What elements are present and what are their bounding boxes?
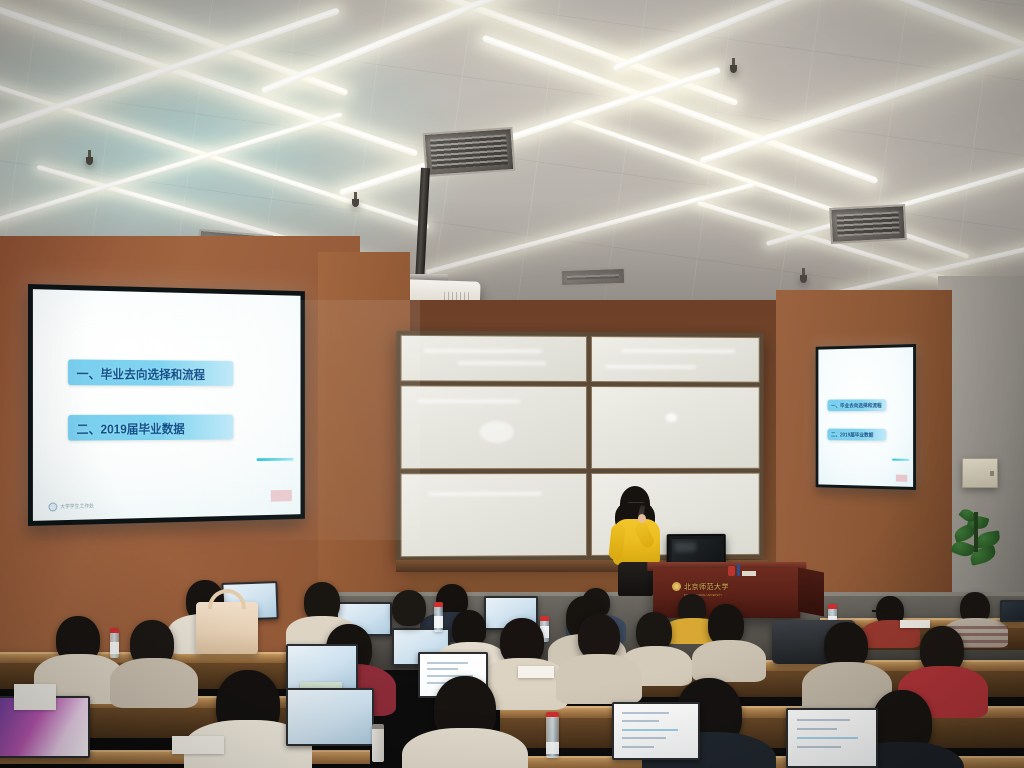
water-bottle [110,628,119,658]
audience-head [392,590,426,626]
wall-control-cabinet [962,458,998,488]
laptop [1000,600,1024,622]
laptop [786,708,878,768]
whiteboard-panel [401,473,587,557]
audience-seating [0,560,1024,768]
slide-logo-text: 大学学生工作处 [60,503,94,511]
thermos [372,724,384,762]
secondary-projection-screen: 一、毕业去向选择和流程 二、2019届毕业数据 [816,344,916,490]
slide-logo-seal [49,502,58,511]
laptop [612,702,700,760]
side-slide-corner-mark [896,475,907,482]
cabinet-latch [990,471,994,476]
lecture-hall-photo: 一、毕业去向选择和流程 二、2019届毕业数据 大学学生工作处 一、毕业去向选择… [0,0,1024,768]
main-screen-surface: 一、毕业去向选择和流程 二、2019届毕业数据 大学学生工作处 [33,289,301,521]
slide-accent-line [257,458,294,461]
papers [518,666,554,678]
audience-shoulders [110,658,198,708]
sprinkler-head [86,150,93,165]
side-slide-bullet-2-text: 二、2019届毕业数据 [831,431,873,438]
water-bottle [546,712,559,758]
audience-shoulders [556,654,642,704]
side-slide-bullet-1-text: 一、毕业去向选择和流程 [831,402,882,409]
slide-corner-mark [271,490,292,502]
papers [172,736,224,754]
side-slide-accent-line [892,459,909,461]
main-projection-screen: 一、毕业去向选择和流程 二、2019届毕业数据 大学学生工作处 [28,284,305,526]
hvac-vent [423,127,516,177]
podium-monitor-glare [674,542,696,552]
slide-bullet-2: 二、2019届毕业数据 [68,415,234,441]
whiteboard-panel [591,336,760,383]
slide-bullet-2-text: 二、2019届毕业数据 [77,418,185,437]
whiteboard-panel [591,386,760,469]
audience-glasses [872,610,890,613]
laptop [286,688,374,746]
presenter-hand [638,514,646,523]
screen-glow [33,289,301,521]
slide-bullet-1: 一、毕业去向选择和流程 [68,359,234,385]
whiteboard-panel [401,386,587,470]
slide-footer-logo: 大学学生工作处 [49,502,94,512]
notebook [900,620,930,628]
sprinkler-head [730,58,737,73]
whiteboard [396,331,763,561]
water-bottle [434,602,443,632]
slide-bullet-1-text: 一、毕业去向选择和流程 [77,363,205,382]
side-screen-surface: 一、毕业去向选择和流程 二、2019届毕业数据 [818,347,913,487]
papers [14,684,56,710]
audience-shoulders [402,728,528,768]
side-slide-bullet-2: 二、2019届毕业数据 [827,429,886,441]
tote-bag [196,602,258,654]
side-slide-bullet-1: 一、毕业去向选择和流程 [827,399,886,411]
plant-stem [974,512,978,552]
audience-shoulders [692,640,766,682]
whiteboard-panel [401,335,587,383]
